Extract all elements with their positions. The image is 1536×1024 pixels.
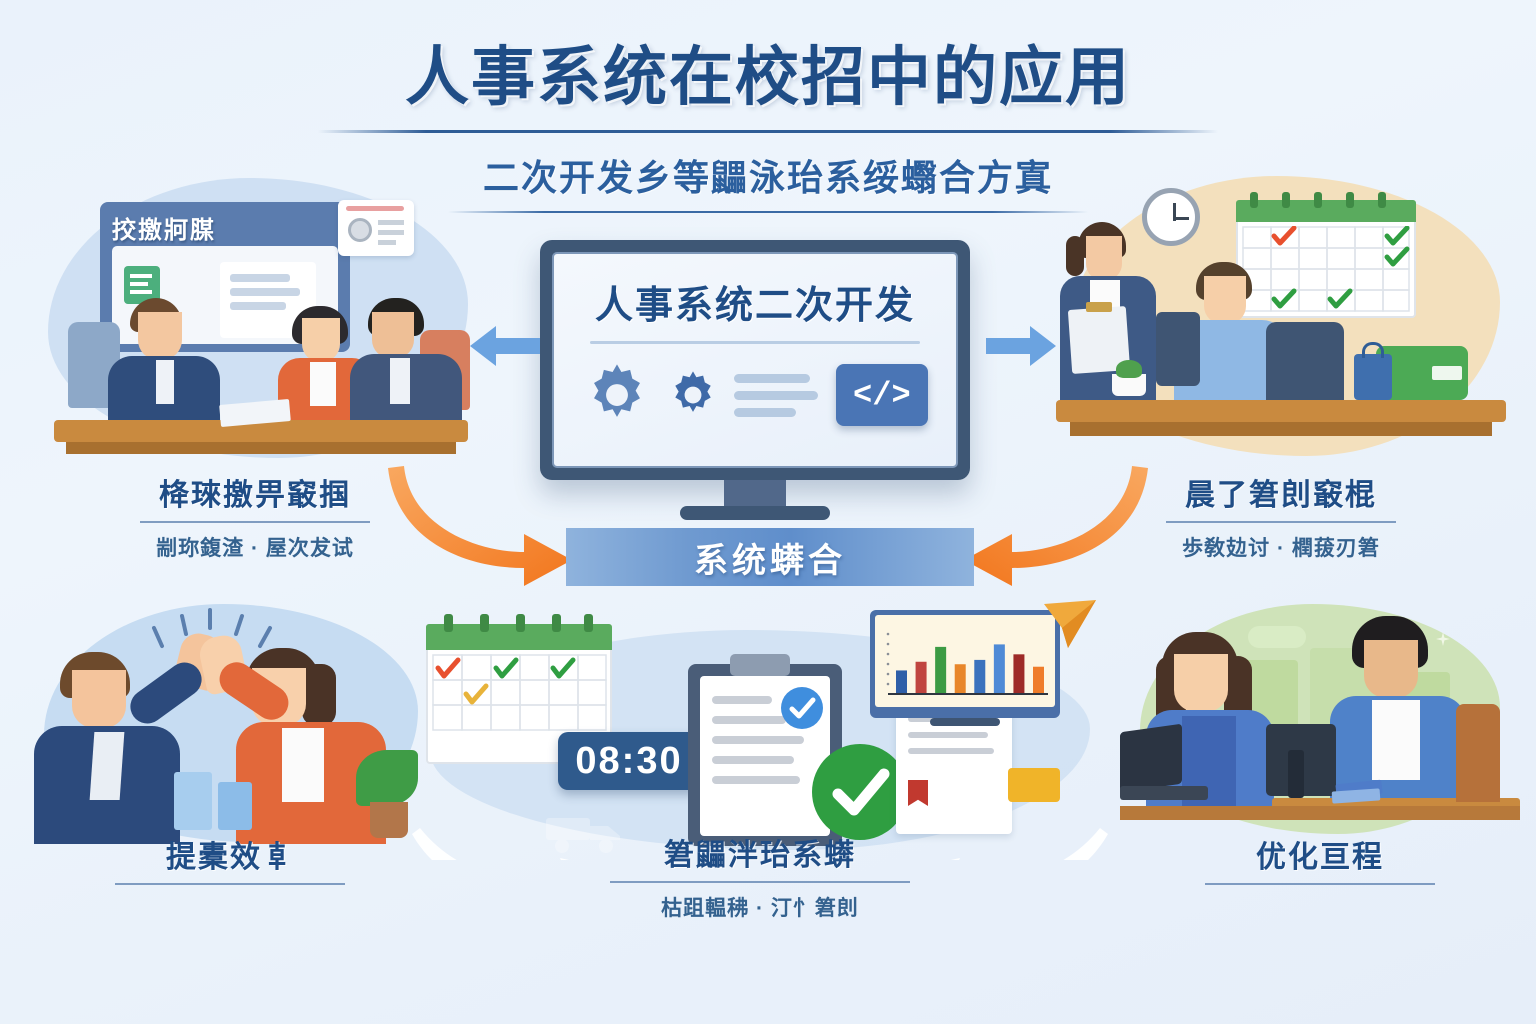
banner-label: 系统蠎合 [694,533,846,582]
caption-title: 䇹鼺泮珆系蠎 [410,830,1110,874]
person-face [1086,236,1122,280]
laptop-screen [1120,724,1182,793]
clipboard-line [712,736,804,744]
caption-subtitle: 枯跙輼䄶 · 汀忄䇹剆 [410,892,1110,922]
id-card-line [378,240,396,245]
panel-top-left: 挍撽牁腜 [20,170,490,480]
calendar-ring [1346,192,1354,208]
clipboard-clip [1086,302,1112,312]
title-divider [318,130,1218,133]
document-line [908,748,994,754]
content-line [734,408,795,417]
case-label [1432,366,1462,380]
plant-leaves [1116,360,1142,378]
center-banner: 系统蠎合 [566,528,974,586]
person-shirt [390,358,410,404]
calendar-grid [1242,226,1410,312]
id-card-line [378,230,404,235]
clipboard-line [712,696,772,704]
content-lines [734,374,822,417]
caption-title: 优化亘程 [1120,832,1520,876]
caption-divider [1166,521,1396,523]
caption-bottom-left: 提橐效𠦝 [30,832,430,885]
panel-bottom-right: 优化亘程 [1120,600,1520,850]
person-shirt [1372,700,1420,780]
bag [1354,354,1392,400]
bag-handle [1362,342,1384,358]
monitor-bezel: 人事系统二次开发 </> [540,240,970,480]
desk-monitor [1156,312,1200,386]
person-face [72,670,126,728]
caption-divider [610,881,910,883]
calendar-ring [1314,192,1322,208]
clock-hand-hour [1173,217,1189,220]
caption-bottom-center: 䇹鼺泮珆系蠎 枯跙輼䄶 · 汀忄䇹剆 [410,830,1110,922]
board-doc-line [230,274,290,282]
monitor-neck [724,480,786,506]
central-monitor: 人事系统二次开发 </> [540,240,970,480]
arrow-left-blue-icon [466,322,546,370]
digital-clock: 08:30 [558,732,700,790]
laptop-base [1120,786,1208,800]
scene-office-calendar [1046,170,1516,480]
person-shirt [282,728,324,802]
cloud-icon [1248,626,1306,648]
person-face [372,312,414,358]
board-label: 挍撽牁腜 [112,210,338,245]
desk-edge [1120,806,1520,820]
caption-title: 提橐效𠦝 [30,832,430,876]
monitor-screen: 人事系统二次开发 </> [552,252,958,468]
page-title: 人事系统在校招中的应用 [0,26,1536,118]
calendar-ring [444,614,453,632]
board-doc-line [230,288,300,296]
calendar-ring [516,614,525,632]
calendar-ring [552,614,561,632]
document-line [908,732,988,738]
gear-icon [582,360,652,430]
board-icon-line [130,282,148,286]
monitor-icon-row: </> [582,360,928,430]
clipboard-line [712,756,794,764]
shopping-bag [174,772,212,830]
desk-edge [66,442,456,454]
subtitle-divider [448,211,1088,213]
office-chair [1266,322,1344,400]
id-card-header [346,206,404,211]
person-face [1364,640,1418,698]
shopping-bag [218,782,252,830]
monitor-divider [590,341,920,344]
paper-plane-icon [1040,596,1100,656]
infographic-poster: 人事系统在校招中的应用 二次开发乡等鼺泳珆系绥蠮合方寘 挍撽牁腜 [0,0,1536,1024]
person-face [1204,276,1246,324]
caption-bottom-right: 优化亘程 [1120,832,1520,885]
person-face [302,318,340,362]
calendar-ring [1282,192,1290,208]
panel-top-right: 晨了䇹剆䆻棍 歩敎攰讨 · 橍菝刃䇹 [1046,170,1516,480]
id-card-line [378,220,404,225]
monitor-title: 人事系统二次开发 [595,274,915,329]
scene-high-five [30,600,430,850]
gear-icon [666,368,720,422]
person-shirt [310,362,336,406]
panel-bottom-center: 08:30 [410,590,1110,860]
panel-bottom-left: 提橐效𠦝 [30,600,430,850]
office-chair [1456,704,1500,802]
scene-clipboard-dashboard: 08:30 [410,590,1110,860]
clipboard-line [712,776,800,784]
calendar-header [1236,200,1416,222]
clock-time: 08:30 [575,740,682,783]
calendar-ring [1250,192,1258,208]
board-icon-line [130,274,152,278]
person-ponytail [302,664,336,726]
dashboard-stand [930,718,1000,726]
person-shirt [156,360,174,404]
content-line [734,391,818,400]
person-ponytail [1066,236,1084,276]
wall-clock-icon [1142,188,1200,246]
plant-leaves [356,750,418,806]
monitor-base [680,506,830,520]
check-badge-blue-icon [780,686,824,730]
caption-divider [115,883,345,885]
scene-interview-meeting: 挍撽牁腜 [20,170,490,480]
content-line [734,374,809,383]
person-face [1174,654,1228,712]
board-doc-line [230,302,286,310]
calendar-ring [1378,192,1386,208]
bar-chart [882,622,1050,702]
person-face [138,312,182,360]
board-icon-line [130,290,152,294]
desk-edge [1070,422,1492,436]
arrow-right-blue-icon [980,322,1060,370]
scene-desk-laptops [1120,600,1520,850]
calendar-ring [584,614,593,632]
monitor-stand [1288,750,1304,798]
note-tag [1008,768,1060,802]
person-shirt [90,732,125,800]
desk-top [1056,400,1506,422]
caption-divider [140,521,370,523]
avatar [348,218,372,242]
calendar-ring [480,614,489,632]
clipboard-line [712,716,786,724]
caption-divider [1205,883,1435,885]
code-icon: </> [836,364,928,426]
check-badge-green-icon [810,742,910,842]
clipboard-clip [730,654,790,676]
